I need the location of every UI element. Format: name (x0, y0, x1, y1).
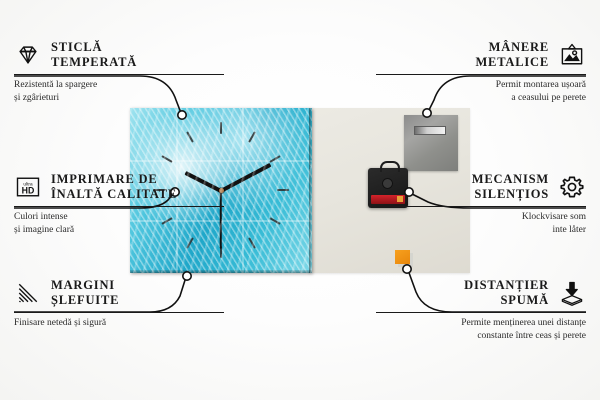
callout-silent-mechanism: MECANISM SILENȚIOS Klockvisare som inte … (376, 172, 586, 236)
title-line-2: SILENȚIOS (472, 187, 549, 202)
callout-title: MÂNERE METALICE (475, 40, 549, 70)
ultra-hd-icon: ultra HD (14, 173, 42, 201)
infographic-stage: STICLĂ TEMPERATĂ Rezistentă la spargere … (0, 0, 600, 400)
callout-subtitle: Culori intense și imagine clară (14, 211, 224, 236)
hour-tick (161, 155, 172, 163)
sub-line-1: Klockvisare som (376, 211, 586, 224)
diamond-icon (14, 41, 42, 69)
clock-edge-shadow (130, 270, 312, 273)
title-line-1: MÂNERE (475, 40, 549, 55)
title-line-2: METALICE (475, 55, 549, 70)
callout-header: MARGINI ȘLEFUITE (14, 278, 224, 308)
callout-header: MECANISM SILENȚIOS (376, 172, 586, 202)
metal-hanger-plate (404, 115, 458, 171)
sub-line-2: constante între ceas și perete (376, 330, 586, 343)
callout-subtitle: Permite menținerea unei distanțe constan… (376, 317, 586, 342)
sub-line-1: Permit montarea ușoară (376, 79, 586, 92)
hour-tick (220, 122, 222, 134)
hour-tick (186, 131, 194, 142)
movement-hanging-loop (380, 161, 400, 172)
callout-header: ultra HD IMPRIMARE DE ÎNALTĂ CALITATE (14, 172, 224, 202)
callout-header: MÂNERE METALICE (376, 40, 586, 70)
hatched-corner-icon (14, 279, 42, 307)
sub-line-2: a ceasului pe perete (376, 92, 586, 105)
title-line-2: ÎNALTĂ CALITATE (51, 187, 177, 202)
title-line-1: MARGINI (51, 278, 119, 293)
callout-tempered-glass: STICLĂ TEMPERATĂ Rezistentă la spargere … (14, 40, 224, 104)
callout-title: STICLĂ TEMPERATĂ (51, 40, 137, 70)
hd-label: HD (22, 185, 35, 195)
sub-line-2: inte låter (376, 224, 586, 237)
callout-subtitle: Klockvisare som inte låter (376, 211, 586, 236)
title-line-1: IMPRIMARE DE (51, 172, 177, 187)
hanger-slot (414, 126, 446, 135)
hour-tick (277, 189, 289, 191)
callout-rule (376, 74, 586, 76)
callout-rule (376, 312, 586, 314)
hour-tick (248, 237, 256, 248)
callout-subtitle: Finisare netedă și sigură (14, 317, 224, 330)
callout-title: DISTANȚIER SPUMĂ (464, 278, 549, 308)
gear-icon (558, 173, 586, 201)
callout-title: MARGINI ȘLEFUITE (51, 278, 119, 308)
title-line-2: TEMPERATĂ (51, 55, 137, 70)
press-down-icon (558, 279, 586, 307)
sub-line-1: Rezistentă la spargere (14, 79, 224, 92)
callout-rule (14, 74, 224, 76)
minute-hand (220, 163, 271, 193)
title-line-1: DISTANȚIER (464, 278, 549, 293)
callout-foam-spacer: DISTANȚIER SPUMĂ Permite menținerea unei… (376, 278, 586, 342)
hour-tick (248, 131, 256, 142)
callout-title: IMPRIMARE DE ÎNALTĂ CALITATE (51, 172, 177, 202)
sub-line-1: Culori intense (14, 211, 224, 224)
callout-header: DISTANȚIER SPUMĂ (376, 278, 586, 308)
glass-seam (130, 160, 312, 162)
hour-tick (186, 237, 194, 248)
sub-line-2: și zgârieturi (14, 92, 224, 105)
title-line-2: SPUMĂ (464, 293, 549, 308)
callout-rule (14, 312, 224, 314)
hour-tick (269, 155, 280, 163)
callout-rule (376, 206, 586, 208)
callout-polished-edges: MARGINI ȘLEFUITE Finisare netedă și sigu… (14, 278, 224, 330)
clock-edge-shadow (309, 108, 312, 273)
callout-subtitle: Rezistentă la spargere și zgârieturi (14, 79, 224, 104)
callout-metal-handles: MÂNERE METALICE Permit montarea ușoară a… (376, 40, 586, 104)
hanging-frame-icon (558, 41, 586, 69)
callout-rule (14, 206, 224, 208)
title-line-1: STICLĂ (51, 40, 137, 55)
hour-tick (269, 217, 280, 225)
glass-seam (242, 108, 244, 273)
callout-title: MECANISM SILENȚIOS (472, 172, 549, 202)
title-line-2: ȘLEFUITE (51, 293, 119, 308)
callout-header: STICLĂ TEMPERATĂ (14, 40, 224, 70)
sub-line-1: Permite menținerea unei distanțe (376, 317, 586, 330)
foam-spacer (395, 250, 410, 264)
sub-line-2: și imagine clară (14, 224, 224, 237)
callout-subtitle: Permit montarea ușoară a ceasului pe per… (376, 79, 586, 104)
sub-line-1: Finisare netedă și sigură (14, 317, 224, 330)
hour-tick (220, 246, 222, 258)
callout-print-quality: ultra HD IMPRIMARE DE ÎNALTĂ CALITATE Cu… (14, 172, 224, 236)
title-line-1: MECANISM (472, 172, 549, 187)
